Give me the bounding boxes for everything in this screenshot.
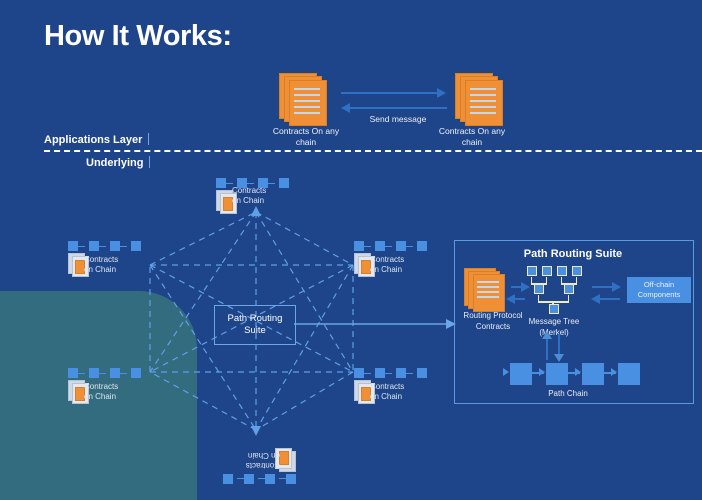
node-label-top-center-line2: on Chain xyxy=(232,196,264,205)
offchain-to-tree-head-icon xyxy=(591,294,600,304)
node-label-right-upper-line2: on Chain xyxy=(370,265,402,274)
merkel-leaf-2 xyxy=(542,266,552,276)
send-arrow-left-head-icon xyxy=(341,103,350,113)
slide-canvas: How It Works: Contracts On any chain Con… xyxy=(0,0,702,500)
app-left-document-stack-icon xyxy=(279,73,331,125)
merkel-mid-2 xyxy=(564,284,574,294)
chain-strip-bottom-center xyxy=(216,474,296,484)
path-routing-suite-box[interactable]: Path Routing Suite xyxy=(214,305,296,345)
path-chain-block-4 xyxy=(618,363,640,385)
node-label-left-upper: Contracts on Chain xyxy=(84,255,118,275)
message-tree-line1: Message Tree xyxy=(529,317,580,326)
node-label-left-upper-line1: Contracts xyxy=(84,255,118,264)
node-label-left-lower-line1: Contracts xyxy=(84,382,118,391)
node-label-bottom-center-line1: Contracts xyxy=(246,461,280,470)
node-label-bottom-center: Contracts on Chain xyxy=(246,450,280,470)
merkel-tree-graphic xyxy=(525,266,583,314)
routing-protocol-contracts-line2: Contracts xyxy=(476,322,510,331)
applications-layer-text: Applications Layer xyxy=(44,134,142,146)
chain-strip-left-lower xyxy=(68,368,148,378)
path-routing-suite-box-line1: Path Routing xyxy=(228,313,283,324)
node-label-right-lower-line2: on Chain xyxy=(370,392,402,401)
path-chain-block-3 xyxy=(582,363,604,385)
app-right-caption: Contracts On any chain xyxy=(437,126,507,148)
app-right-caption-line2: chain xyxy=(462,137,482,147)
app-right-caption-line1: Contracts On any xyxy=(439,126,505,136)
chain-strip-right-upper xyxy=(354,241,434,251)
tree-to-contracts-head-icon xyxy=(506,294,515,304)
underlying-layer-label: Underlying xyxy=(86,156,150,169)
merkel-root xyxy=(549,304,559,314)
chain-strip-left-upper xyxy=(68,241,148,251)
node-label-right-lower-line1: Contracts xyxy=(370,382,404,391)
tree-to-offchain-head-icon xyxy=(612,282,621,292)
offchain-components-box[interactable]: Off-chain Components xyxy=(627,277,691,303)
app-right-document-stack-icon xyxy=(455,73,507,125)
offchain-components-line1: Off-chain xyxy=(644,280,674,289)
pathchain-to-tree-line xyxy=(546,338,548,360)
app-left-caption-line1: Contracts On any xyxy=(273,126,339,136)
path-chain-label: Path Chain xyxy=(503,388,633,399)
routing-protocol-contracts-icon xyxy=(464,268,510,314)
tree-to-offchain-line xyxy=(592,286,614,288)
path-routing-suite-box-line2: Suite xyxy=(244,325,266,336)
merkel-leaf-3 xyxy=(557,266,567,276)
merkel-mid-1 xyxy=(534,284,544,294)
node-label-bottom-center-line2: on Chain xyxy=(248,451,280,460)
app-left-caption-line2: chain xyxy=(296,137,316,147)
send-message-label: Send message xyxy=(349,114,447,125)
node-group-bottom-center: Contracts on Chain xyxy=(216,440,296,484)
path-chain-block-2 xyxy=(546,363,568,385)
merkel-leaf-4 xyxy=(572,266,582,276)
chain-strip-right-lower xyxy=(354,368,434,378)
underlying-layer-text: Underlying xyxy=(86,157,143,169)
applications-layer-label: Applications Layer xyxy=(44,133,149,146)
pathchain-to-tree-head-icon xyxy=(542,331,552,339)
node-label-right-lower: Contracts on Chain xyxy=(370,382,404,402)
detail-panel-title: Path Routing Suite xyxy=(454,248,692,260)
node-label-left-upper-line2: on Chain xyxy=(84,265,116,274)
app-left-caption: Contracts On any chain xyxy=(271,126,341,148)
message-tree-label: Message Tree (Merkel) xyxy=(514,316,594,338)
layer-divider xyxy=(44,150,702,152)
path-chain-block-1 xyxy=(510,363,532,385)
offchain-components-line2: Components xyxy=(638,290,681,299)
send-arrow-left-line xyxy=(349,107,447,109)
tree-to-pathchain-line xyxy=(558,334,560,356)
page-title: How It Works: xyxy=(44,20,232,53)
node-label-right-upper: Contracts on Chain xyxy=(370,255,404,275)
merkel-leaf-1 xyxy=(527,266,537,276)
path-chain-graphic xyxy=(503,363,633,385)
node-label-top-center: Contracts on Chain xyxy=(232,186,266,206)
node-label-left-lower-line2: on Chain xyxy=(84,392,116,401)
offchain-to-tree-line xyxy=(598,298,620,300)
node-label-left-lower: Contracts on Chain xyxy=(84,382,118,402)
send-arrow-right-head-icon xyxy=(437,88,446,98)
node-label-right-upper-line1: Contracts xyxy=(370,255,404,264)
node-label-top-center-line1: Contracts xyxy=(232,186,266,195)
send-arrow-right-line xyxy=(341,92,439,94)
tree-to-pathchain-head-icon xyxy=(554,354,564,362)
